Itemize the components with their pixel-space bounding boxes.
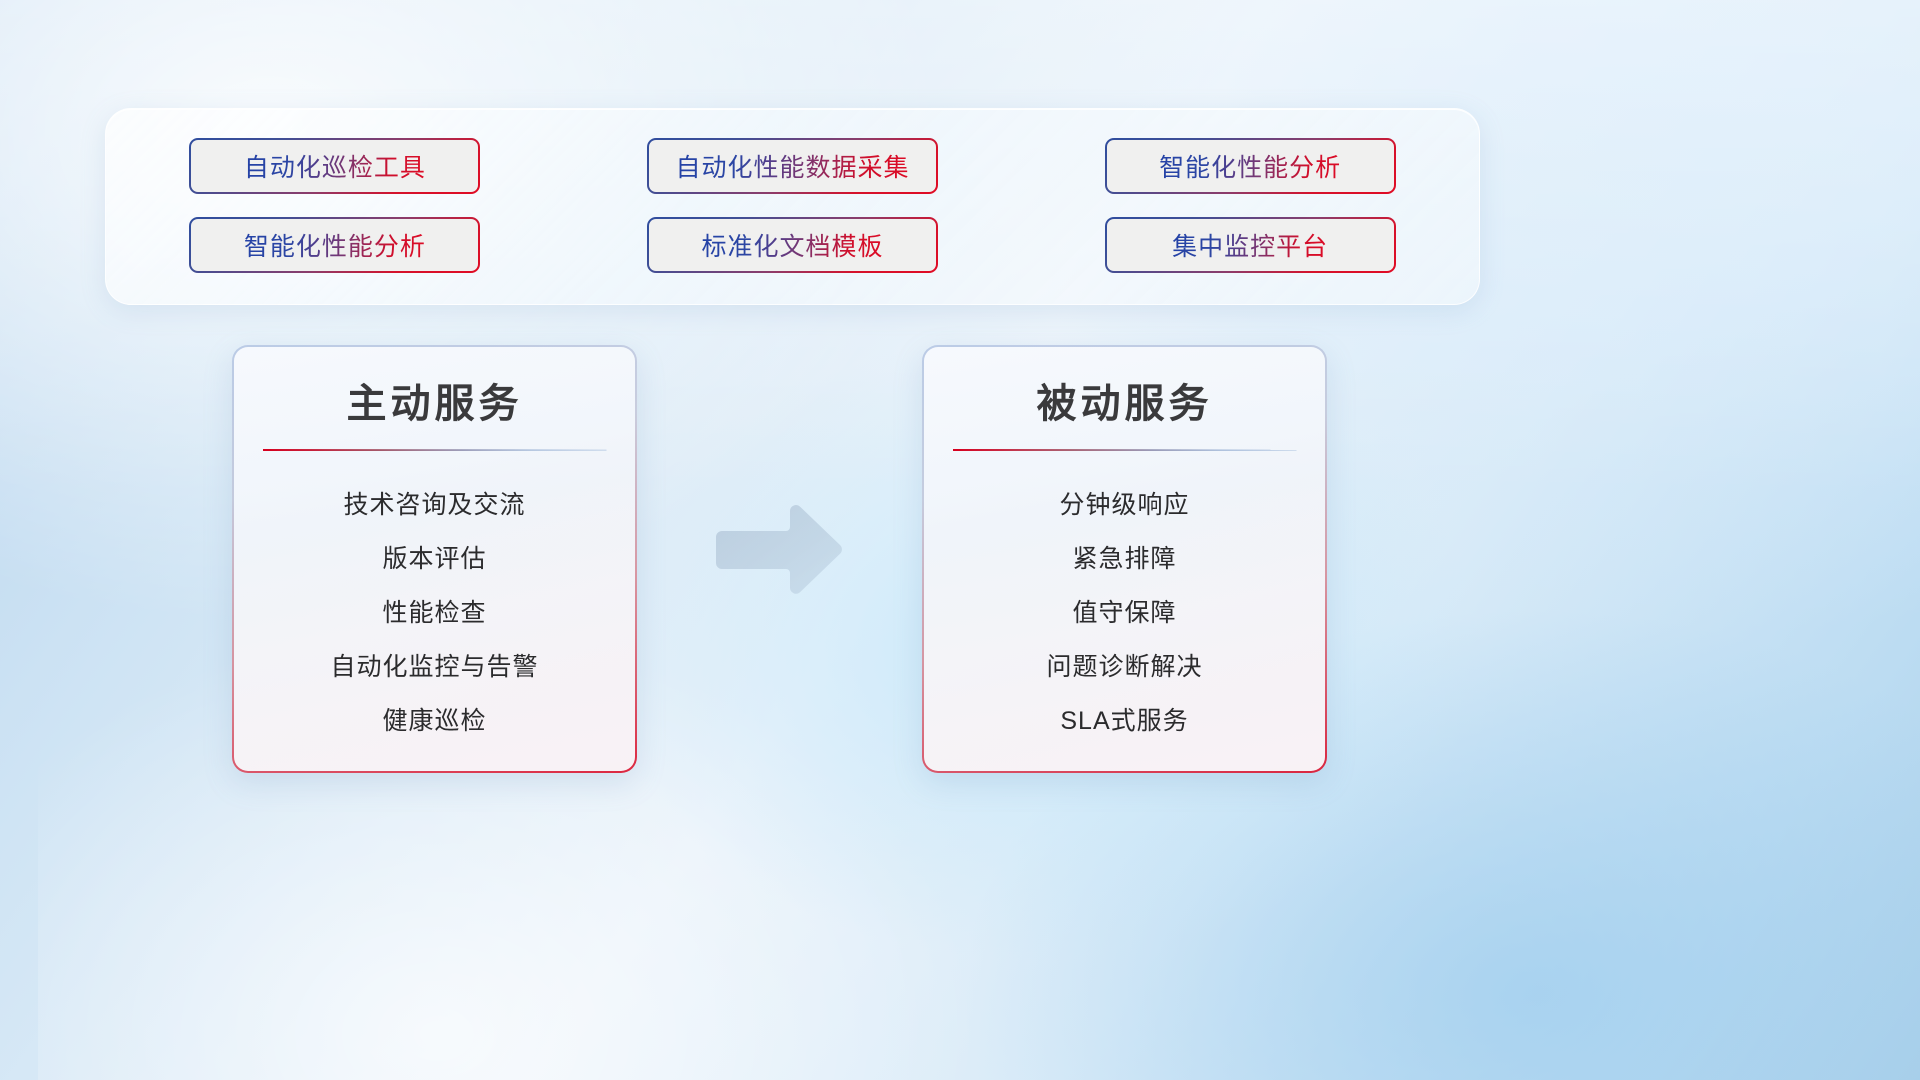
service-item-list: 分钟级响应 紧急排障 值守保障 问题诊断解决 SLA式服务 [948,479,1301,749]
service-card-proactive[interactable]: 主动服务 技术咨询及交流 版本评估 性能检查 自动化监控与告警 健康巡检 [232,345,637,773]
capability-tag-centralized-monitoring-platform[interactable]: 集中监控平台 [1105,217,1396,273]
list-item[interactable]: 紧急排障 [1072,533,1176,587]
list-item[interactable]: 值守保障 [1072,587,1176,641]
list-item[interactable]: 分钟级响应 [1059,479,1189,533]
tag-inner-surface: 自动化巡检工具 [191,140,478,192]
tag-label: 集中监控平台 [1172,227,1328,263]
card-inner-surface: 被动服务 分钟级响应 紧急排障 值守保障 问题诊断解决 SLA式服务 [924,347,1325,771]
card-title-divider [263,449,607,451]
arrow-right-icon [716,505,842,594]
card-title: 主动服务 [347,381,523,427]
capability-tag-automated-inspection-tool[interactable]: 自动化巡检工具 [189,138,480,194]
capability-tag-automated-performance-data-collection[interactable]: 自动化性能数据采集 [647,138,938,194]
tag-label: 智能化性能分析 [1159,148,1341,184]
tag-inner-surface: 标准化文档模板 [649,219,936,271]
list-item[interactable]: 自动化监控与告警 [330,641,538,695]
list-item[interactable]: 技术咨询及交流 [343,479,525,533]
divider-gradient-wedge [953,449,1297,451]
capability-tag-intelligent-performance-analysis-top[interactable]: 智能化性能分析 [1105,138,1396,194]
capability-tag-standardized-document-template[interactable]: 标准化文档模板 [647,217,938,273]
capability-tag-intelligent-performance-analysis-bottom[interactable]: 智能化性能分析 [189,217,480,273]
list-item[interactable]: 健康巡检 [382,695,486,749]
tag-inner-surface: 智能化性能分析 [191,219,478,271]
list-item[interactable]: SLA式服务 [1060,695,1188,749]
slide-stage: 自动化巡检工具 自动化性能数据采集 智能化性能分析 智能化性能分析 标准化文档模… [0,0,1920,1080]
tag-inner-surface: 集中监控平台 [1107,219,1394,271]
list-item[interactable]: 性能检查 [382,587,486,641]
tag-inner-surface: 自动化性能数据采集 [649,140,936,192]
capability-tags-panel: 自动化巡检工具 自动化性能数据采集 智能化性能分析 智能化性能分析 标准化文档模… [105,108,1480,305]
service-card-reactive[interactable]: 被动服务 分钟级响应 紧急排障 值守保障 问题诊断解决 SLA式服务 [922,345,1327,773]
card-title-divider [953,449,1297,451]
tag-inner-surface: 智能化性能分析 [1107,140,1394,192]
tag-label: 自动化巡检工具 [244,148,426,184]
card-inner-surface: 主动服务 技术咨询及交流 版本评估 性能检查 自动化监控与告警 健康巡检 [234,347,635,771]
divider-gradient-wedge [263,449,607,451]
card-title: 被动服务 [1037,381,1213,427]
list-item[interactable]: 版本评估 [382,533,486,587]
list-item[interactable]: 问题诊断解决 [1046,641,1202,695]
service-item-list: 技术咨询及交流 版本评估 性能检查 自动化监控与告警 健康巡检 [258,479,611,749]
tag-label: 自动化性能数据采集 [675,148,909,184]
tag-label: 智能化性能分析 [244,227,426,263]
flow-arrow [716,497,850,603]
tag-label: 标准化文档模板 [701,227,883,263]
